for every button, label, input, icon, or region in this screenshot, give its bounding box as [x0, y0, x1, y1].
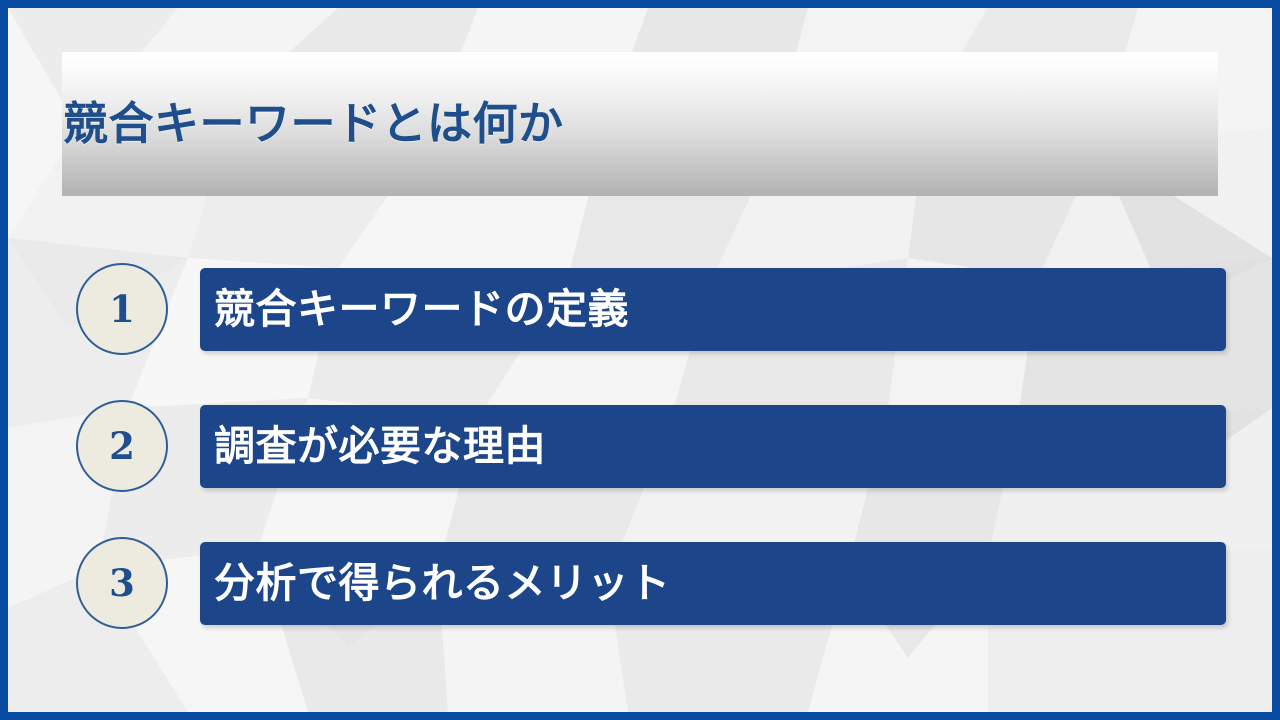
item-bar[interactable]: 調査が必要な理由 [200, 405, 1226, 488]
item-bar[interactable]: 分析で得られるメリット [200, 542, 1226, 625]
page-title: 競合キーワードとは何か [62, 52, 1218, 196]
step-number-badge: 3 [76, 537, 168, 629]
list-item[interactable]: 1 競合キーワードの定義 [62, 263, 1218, 355]
list-item[interactable]: 2 調査が必要な理由 [62, 400, 1218, 492]
step-number-label: 3 [109, 565, 135, 602]
step-number-label: 1 [109, 291, 135, 328]
slide-canvas: 競合キーワードとは何か 1 競合キーワードの定義 2 調査が必要な理由 3 分析… [0, 0, 1280, 720]
list-item[interactable]: 3 分析で得られるメリット [62, 537, 1218, 629]
step-number-badge: 1 [76, 263, 168, 355]
item-bar[interactable]: 競合キーワードの定義 [200, 268, 1226, 351]
step-number-label: 2 [109, 428, 135, 465]
title-banner: 競合キーワードとは何か [62, 52, 1218, 196]
item-label: 分析で得られるメリット [214, 562, 671, 605]
item-label: 競合キーワードの定義 [214, 288, 629, 331]
item-label: 調査が必要な理由 [214, 425, 546, 468]
step-number-badge: 2 [76, 400, 168, 492]
